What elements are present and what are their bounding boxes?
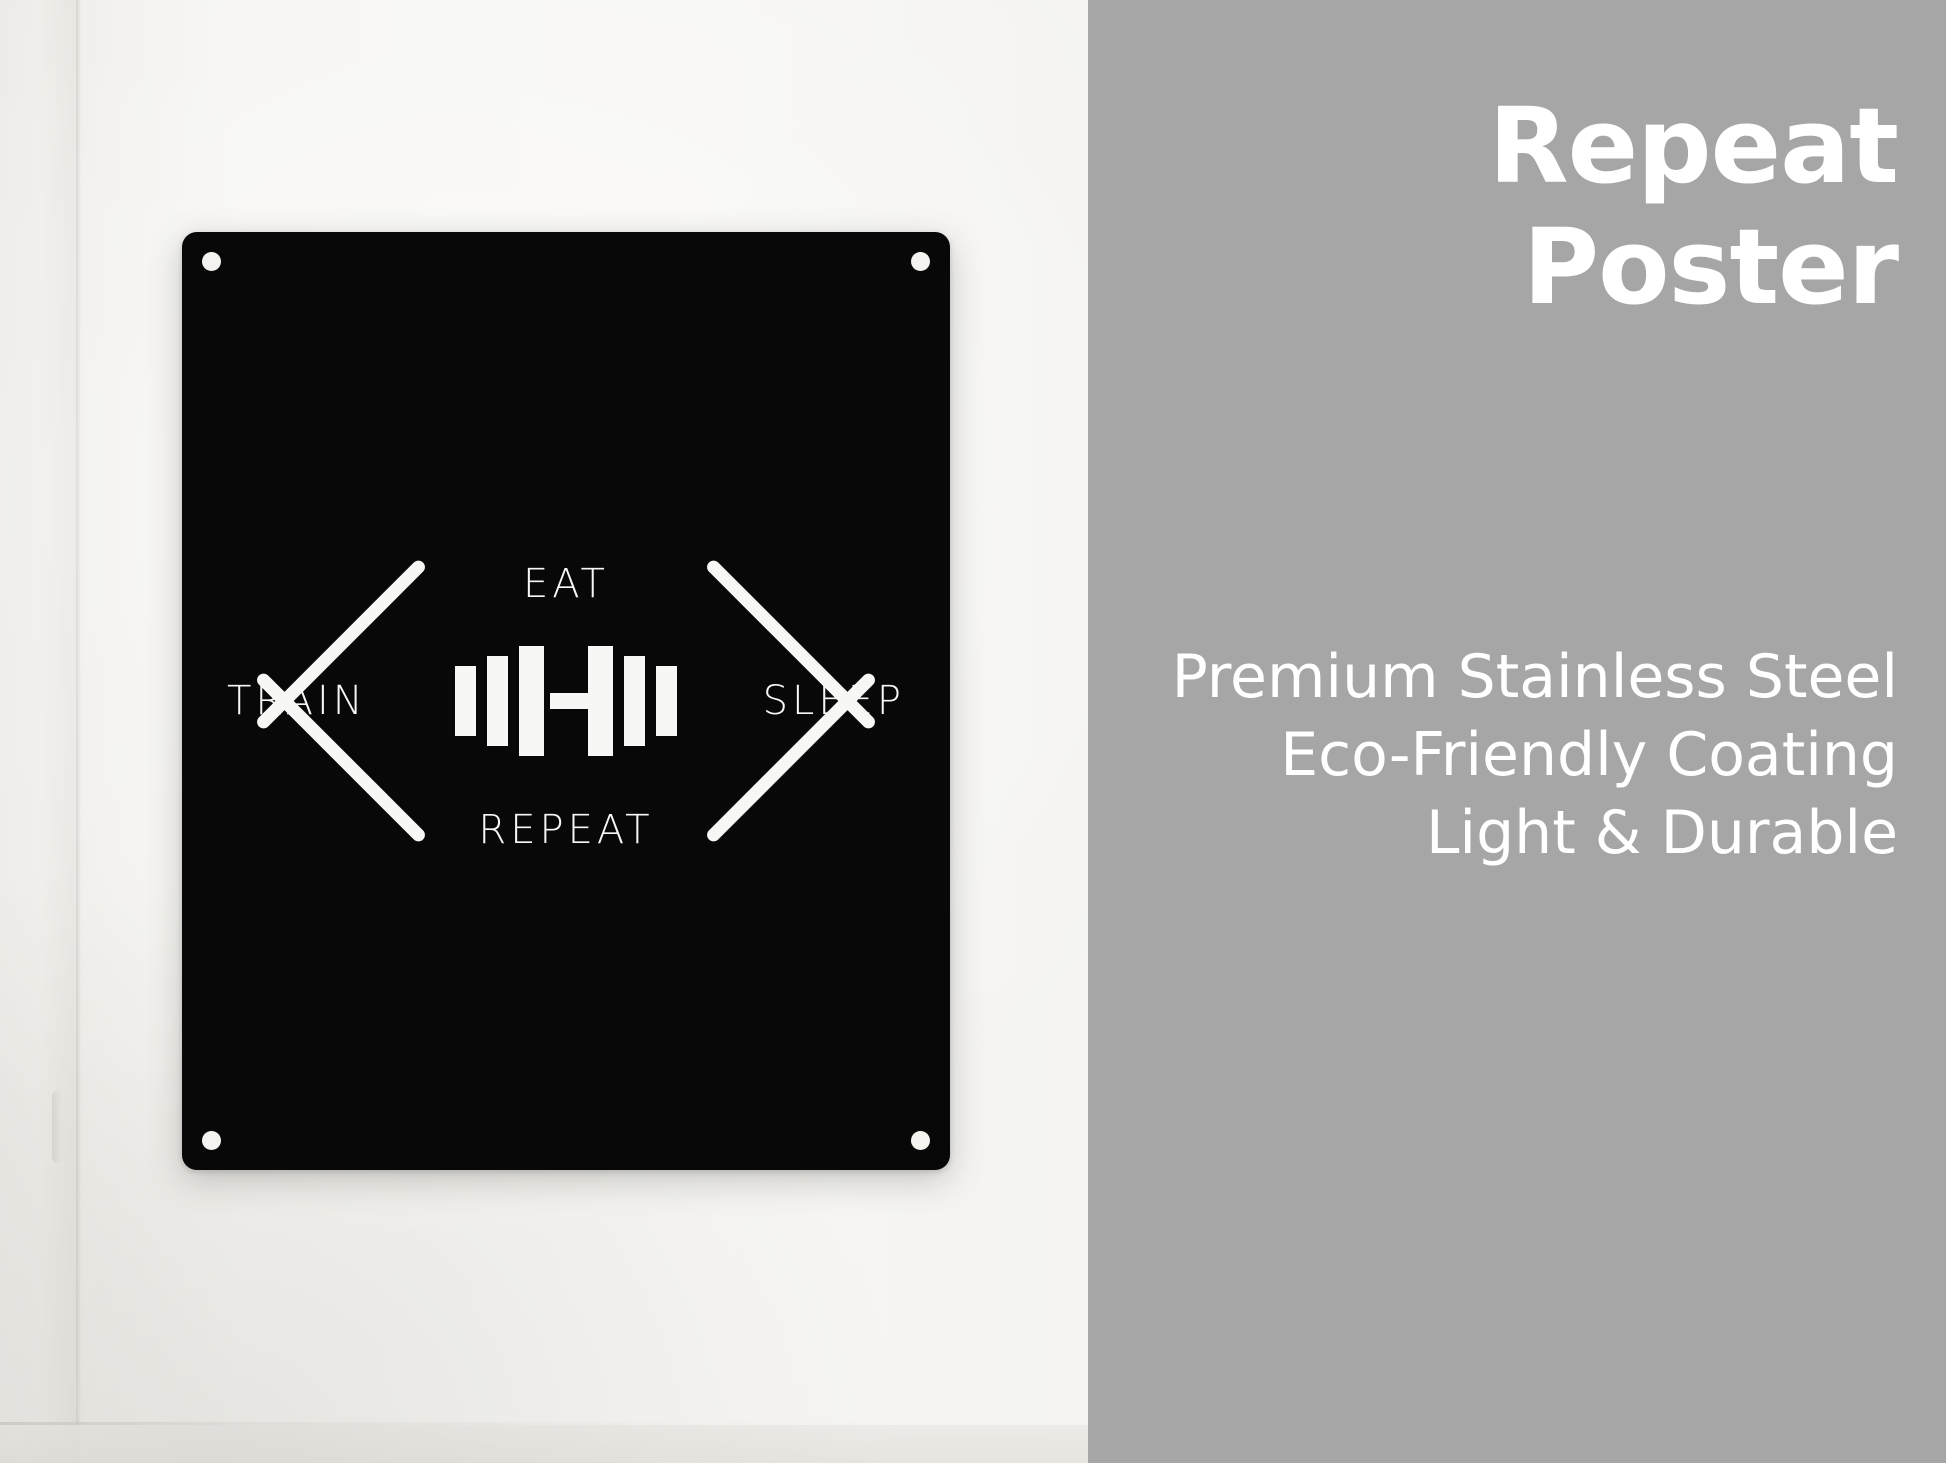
feature-item-3: Light & Durable xyxy=(1138,794,1898,872)
barbell-plate-inner-left xyxy=(519,646,544,756)
wall-fixture-mark xyxy=(52,1091,63,1163)
sign-label-repeat: REPEAT xyxy=(182,810,950,850)
product-marketing-image: EAT TRAIN SLEEP REPEAT Repeat Poster Pre… xyxy=(0,0,1946,1463)
barbell-plate-mid-left xyxy=(487,656,508,746)
wall-corner-edge xyxy=(76,0,81,1463)
metal-sign: EAT TRAIN SLEEP REPEAT xyxy=(182,232,950,1170)
barbell-plate-outer-left xyxy=(455,666,476,736)
barbell-plate-mid-right xyxy=(624,656,645,746)
sign-artwork: EAT TRAIN SLEEP REPEAT xyxy=(182,232,950,1170)
barbell-icon xyxy=(455,646,677,756)
product-photo-panel: EAT TRAIN SLEEP REPEAT xyxy=(0,0,1088,1463)
sign-label-eat: EAT xyxy=(182,564,950,604)
barbell-plate-inner-right xyxy=(588,646,613,756)
feature-item-2: Eco-Friendly Coating xyxy=(1138,716,1898,794)
info-panel: Repeat Poster Premium Stainless Steel Ec… xyxy=(1088,0,1946,1463)
floor-strip xyxy=(0,1425,1088,1463)
feature-list: Premium Stainless Steel Eco-Friendly Coa… xyxy=(1138,638,1898,872)
product-title-line-2: Poster xyxy=(1138,207,1898,328)
sign-label-train: TRAIN xyxy=(227,681,367,721)
product-title: Repeat Poster xyxy=(1138,86,1898,327)
barbell-plate-outer-right xyxy=(656,666,677,736)
feature-item-1: Premium Stainless Steel xyxy=(1138,638,1898,716)
product-title-line-1: Repeat xyxy=(1138,86,1898,207)
wall-floor-seam xyxy=(0,1422,1088,1425)
sign-label-sleep: SLEEP xyxy=(763,681,905,721)
